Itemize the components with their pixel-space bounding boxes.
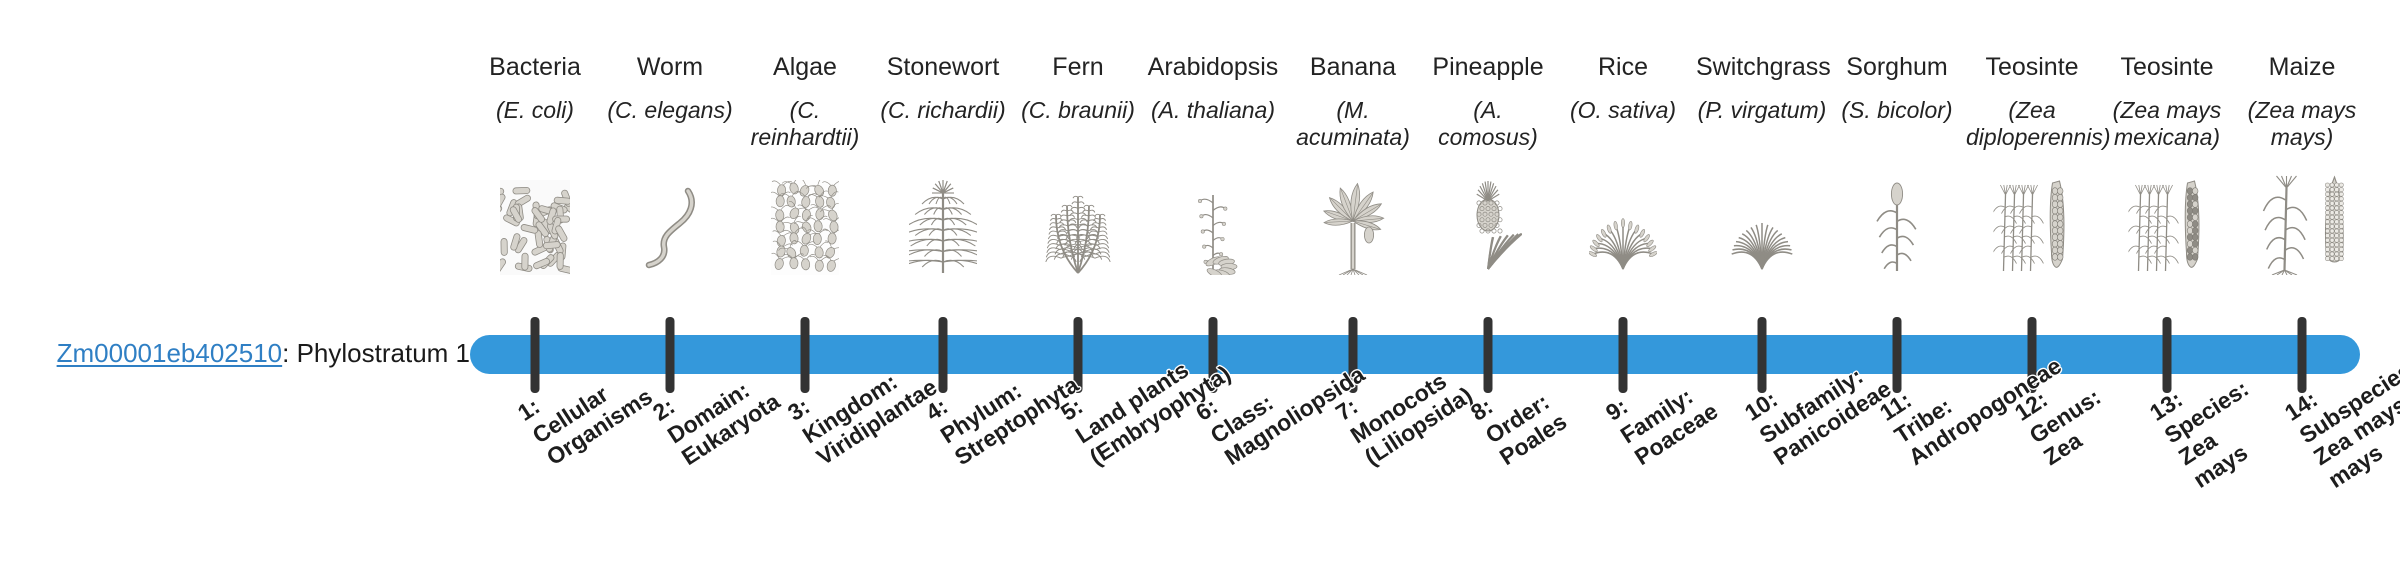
species-column: Banana(M. acuminata) [1287, 52, 1419, 151]
species-column: Algae(C. reinhardtii) [739, 52, 871, 151]
species-latin-name: (C. reinhardtii) [739, 97, 871, 151]
phylostratum-label: 8: Order: Poales [1466, 364, 1572, 471]
pineapple-plant-icon [1454, 163, 1522, 275]
species-common-name: Stonewort [877, 52, 1009, 83]
timeline-tick[interactable] [1619, 317, 1628, 393]
species-common-name: Teosinte [1966, 52, 2098, 83]
species-latin-name: (A. thaliana) [1147, 97, 1279, 124]
species-column: Teosinte(Zea mays mexicana) [2101, 52, 2233, 151]
species-latin-name: (C. braunii) [1012, 97, 1144, 124]
species-latin-name: (E. coli) [469, 97, 601, 124]
timeline-tick[interactable] [1758, 317, 1767, 393]
species-common-name: Rice [1557, 52, 1689, 83]
nematode-worm-icon [636, 163, 704, 275]
gene-phylostratum-label: Zm00001eb402510: Phylostratum 1 [30, 338, 470, 369]
species-column: Bacteria(E. coli) [469, 52, 601, 124]
timeline-tick[interactable] [531, 317, 540, 393]
teosinte-mexicana-icon [2129, 163, 2206, 275]
species-column: Worm(C. elegans) [604, 52, 736, 124]
species-common-name: Sorghum [1831, 52, 1963, 83]
species-column: Switchgrass(P. virgatum) [1696, 52, 1828, 124]
rice-plant-icon [1589, 163, 1657, 275]
species-common-name: Bacteria [469, 52, 601, 83]
species-common-name: Switchgrass [1696, 52, 1828, 83]
species-latin-name: (S. bicolor) [1831, 97, 1963, 124]
fern-frond-icon [1044, 163, 1112, 275]
timeline-tick[interactable] [2298, 317, 2307, 393]
species-latin-name: (O. sativa) [1557, 97, 1689, 124]
phylostratum-value: Phylostratum 1 [297, 338, 470, 368]
species-latin-name: (Zea mays mays) [2236, 97, 2368, 151]
species-latin-name: (Zea diploperennis) [1966, 97, 2098, 151]
timeline-tick[interactable] [1893, 317, 1902, 393]
species-latin-name: (Zea mays mexicana) [2101, 97, 2233, 151]
gene-id-link[interactable]: Zm00001eb402510 [57, 338, 283, 368]
species-latin-name: (C. elegans) [604, 97, 736, 124]
banana-plant-icon [1319, 163, 1387, 275]
sorghum-plant-icon [1863, 163, 1931, 275]
species-common-name: Banana [1287, 52, 1419, 83]
maize-plant-ear-icon [2255, 163, 2350, 275]
timeline-tick[interactable] [939, 317, 948, 393]
stonewort-icon [909, 163, 977, 275]
timeline-tick[interactable] [801, 317, 810, 393]
species-column: Pineapple(A. comosus) [1422, 52, 1554, 151]
species-column: Teosinte(Zea diploperennis) [1966, 52, 2098, 151]
switchgrass-icon [1728, 163, 1796, 275]
species-column: Rice(O. sativa) [1557, 52, 1689, 124]
species-column: Sorghum(S. bicolor) [1831, 52, 1963, 124]
species-column: Maize(Zea mays mays) [2236, 52, 2368, 151]
timeline-tick[interactable] [1484, 317, 1493, 393]
species-column: Fern(C. braunii) [1012, 52, 1144, 124]
species-common-name: Pineapple [1422, 52, 1554, 83]
species-common-name: Worm [604, 52, 736, 83]
species-latin-name: (M. acuminata) [1287, 97, 1419, 151]
ecoli-rods-icon [500, 163, 570, 275]
species-common-name: Teosinte [2101, 52, 2233, 83]
chlamydomonas-icon [771, 163, 839, 275]
gene-label-separator: : [282, 338, 296, 368]
species-latin-name: (P. virgatum) [1696, 97, 1828, 124]
species-column: Arabidopsis(A. thaliana) [1147, 52, 1279, 124]
species-latin-name: (A. comosus) [1422, 97, 1554, 151]
species-common-name: Maize [2236, 52, 2368, 83]
phylostratigraphy-figure: Zm00001eb402510: Phylostratum 1 Bacteria… [0, 0, 2400, 580]
species-latin-name: (C. richardii) [877, 97, 1009, 124]
species-common-name: Fern [1012, 52, 1144, 83]
species-common-name: Arabidopsis [1147, 52, 1279, 83]
arabidopsis-icon [1179, 163, 1247, 275]
timeline-tick[interactable] [666, 317, 675, 393]
teosinte-diplo-icon [1994, 163, 2071, 275]
species-column: Stonewort(C. richardii) [877, 52, 1009, 124]
timeline-tick[interactable] [2163, 317, 2172, 393]
species-common-name: Algae [739, 52, 871, 83]
